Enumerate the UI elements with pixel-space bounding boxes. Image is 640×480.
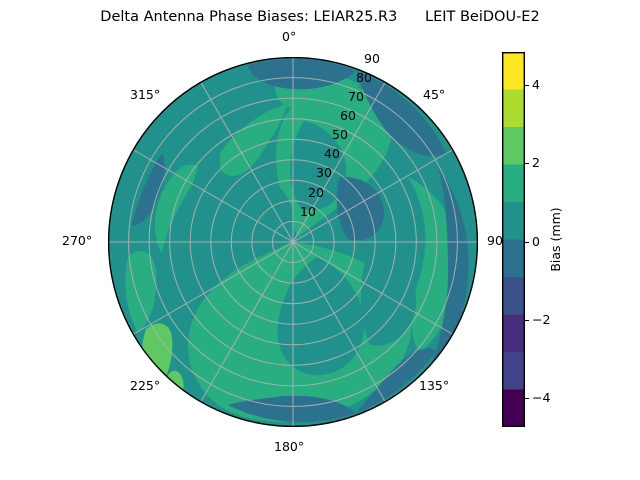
radial-tick-80: 80 <box>356 72 372 85</box>
colorbar-tickmark-2 <box>525 163 529 164</box>
angular-tick-225: 225° <box>130 380 160 393</box>
colorbar-tickmark-4 <box>525 85 529 86</box>
colorbar-tickmark-0 <box>525 242 529 243</box>
colorbar <box>502 52 525 427</box>
angular-tick-180: 180° <box>274 441 304 454</box>
radial-tick-70: 70 <box>348 91 364 104</box>
radial-tick-90: 90 <box>364 53 380 66</box>
colorbar-tick-label-0: 0 <box>532 236 540 249</box>
colorbar-tickmark-n2 <box>525 320 529 321</box>
angular-tick-315: 315° <box>130 89 160 102</box>
polar-plot <box>108 57 478 427</box>
contour-region-brightgreen-sw2 <box>163 371 183 413</box>
radial-tick-30: 30 <box>316 167 332 180</box>
angular-tick-135: 135° <box>419 380 449 393</box>
colorbar-gradient <box>502 52 525 427</box>
colorbar-bands <box>502 52 525 427</box>
colorbar-tick-label-4: 4 <box>532 79 540 92</box>
radial-tick-20: 20 <box>308 187 324 200</box>
page-title: Delta Antenna Phase Biases: LEIAR25.R3 L… <box>0 9 640 25</box>
angular-tick-90: 90 <box>487 235 503 248</box>
angular-tick-0: 0° <box>282 31 296 44</box>
figure-canvas: Delta Antenna Phase Biases: LEIAR25.R3 L… <box>0 0 640 480</box>
angular-tick-270: 270° <box>62 235 92 248</box>
colorbar-tickmark-n4 <box>525 398 529 399</box>
radial-tick-10: 10 <box>300 206 316 219</box>
radial-tick-50: 50 <box>332 129 348 142</box>
colorbar-tick-label-2: 2 <box>532 157 540 170</box>
radial-tick-40: 40 <box>324 148 340 161</box>
colorbar-axis-label: Bias (mm) <box>548 52 571 427</box>
radial-tick-60: 60 <box>340 110 356 123</box>
polar-plot-svg <box>108 57 478 427</box>
angular-tick-45: 45° <box>423 89 445 102</box>
